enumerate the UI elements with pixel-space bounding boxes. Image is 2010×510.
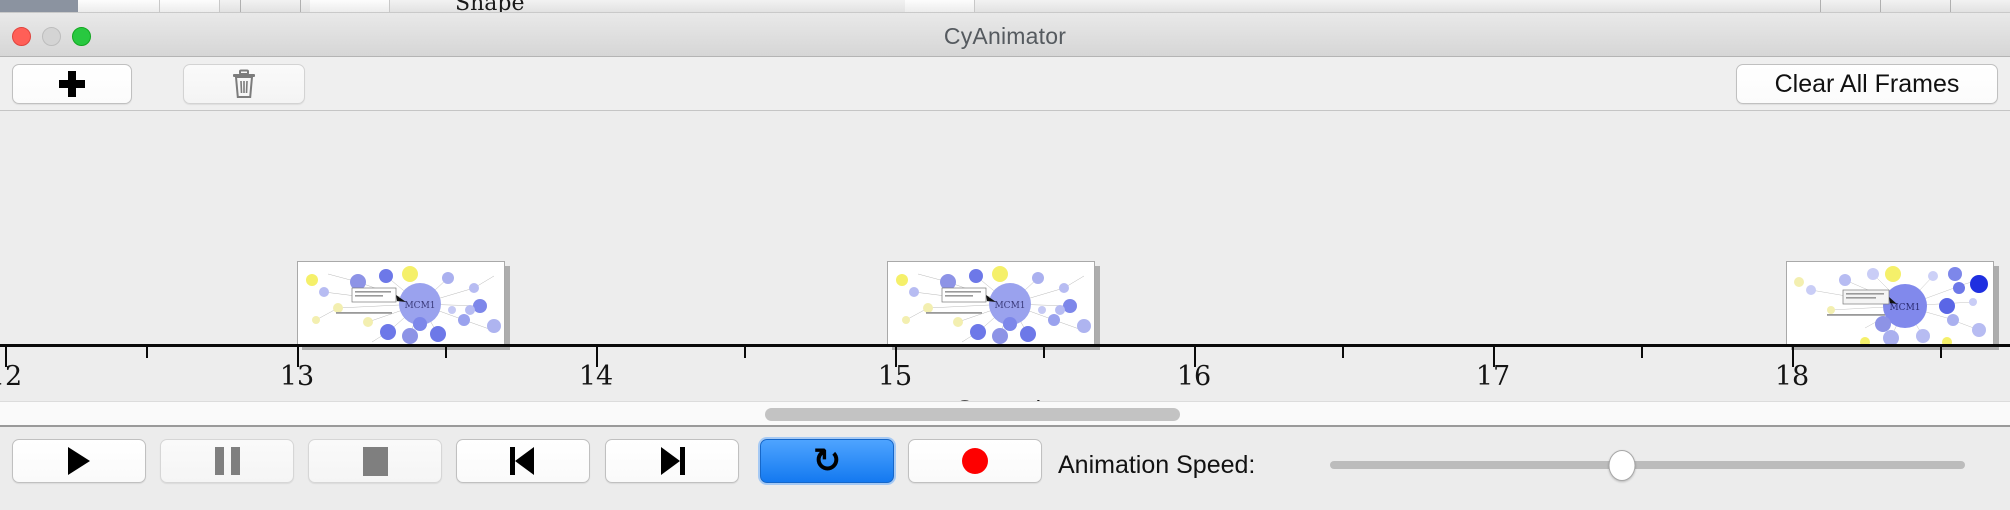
- cyanimator-window: CyAnimator Clear All Frames: [0, 12, 2010, 510]
- background-window-tick: [240, 0, 241, 12]
- axis-label-18: 18: [1775, 361, 1809, 392]
- axis-label-17: 17: [1476, 361, 1510, 392]
- record-button[interactable]: [908, 439, 1042, 483]
- background-window-segment: [78, 0, 160, 12]
- background-window-tick: [1950, 0, 1951, 12]
- clear-all-frames-label: Clear All Frames: [1775, 70, 1960, 99]
- delete-frame-button[interactable]: [183, 64, 305, 104]
- background-window-tick: [1820, 0, 1821, 12]
- background-window-sidebar: [0, 0, 78, 12]
- axis-label-16: 16: [1177, 361, 1211, 392]
- axis-label-12: 12: [0, 361, 22, 392]
- skip-end-button[interactable]: [605, 439, 739, 483]
- frame-thumbnail-1[interactable]: MCM1: [297, 261, 505, 345]
- network-graph-preview: MCM1: [888, 262, 1095, 345]
- animation-speed-slider[interactable]: [1330, 461, 1965, 469]
- axis-tick-minor: [1641, 347, 1643, 358]
- pause-icon: [215, 447, 240, 475]
- axis-tick-minor: [1342, 347, 1344, 358]
- scrollbar-thumb[interactable]: [765, 408, 1180, 421]
- window-title: CyAnimator: [0, 23, 2010, 50]
- frame-timeline[interactable]: MCM1: [0, 111, 2010, 401]
- background-window-segment: [905, 0, 975, 12]
- axis-tick-minor: [744, 347, 746, 358]
- cyanimator-screen: Shape CyAnimator: [0, 0, 2010, 510]
- window-titlebar: CyAnimator: [0, 13, 2010, 57]
- timeline-horizontal-scrollbar[interactable]: [0, 401, 2010, 427]
- animation-speed-label: Animation Speed:: [1058, 451, 1255, 480]
- loop-icon: ↻: [813, 444, 842, 478]
- svg-text:MCM1: MCM1: [1889, 303, 1920, 313]
- axis-tick-minor: [445, 347, 447, 358]
- background-window-segment: [160, 0, 220, 12]
- trash-icon: [231, 69, 257, 99]
- background-window-strip: Shape: [0, 0, 2010, 12]
- plus-icon: [59, 71, 85, 97]
- stop-icon: [363, 447, 388, 476]
- skip-start-button[interactable]: [456, 439, 590, 483]
- background-window-title: Shape: [455, 0, 524, 12]
- network-graph-preview: MCM1: [298, 262, 505, 345]
- animation-speed-slider-thumb[interactable]: [1609, 450, 1636, 481]
- play-icon: [68, 447, 90, 475]
- pause-button[interactable]: [160, 439, 294, 483]
- frame-thumbnail-2[interactable]: MCM1: [887, 261, 1095, 345]
- axis-label-15: 15: [878, 361, 912, 392]
- axis-tick-minor: [146, 347, 148, 358]
- skip-forward-icon: [659, 447, 685, 475]
- svg-text:MCM1: MCM1: [994, 301, 1025, 311]
- playback-controls: ↻ Animation Speed:: [0, 427, 2010, 501]
- record-icon: [962, 448, 988, 474]
- background-window-segment: [310, 0, 390, 12]
- axis-tick-minor: [1043, 347, 1045, 358]
- frame-toolbar: Clear All Frames: [0, 57, 2010, 111]
- background-window-tick: [1880, 0, 1881, 12]
- stop-button[interactable]: [308, 439, 442, 483]
- timeline-axis-line: [0, 344, 2010, 347]
- loop-button[interactable]: ↻: [760, 439, 894, 483]
- axis-tick-minor: [1940, 347, 1942, 358]
- svg-text:MCM1: MCM1: [404, 301, 435, 311]
- axis-label-14: 14: [579, 361, 613, 392]
- add-frame-button[interactable]: [12, 64, 132, 104]
- network-graph-preview: MCM1: [1787, 262, 1994, 345]
- skip-back-icon: [510, 447, 536, 475]
- background-window-tick: [300, 0, 301, 12]
- clear-all-frames-button[interactable]: Clear All Frames: [1736, 64, 1998, 104]
- axis-label-13: 13: [280, 361, 314, 392]
- frame-thumbnail-3[interactable]: MCM1: [1786, 261, 1994, 345]
- play-button[interactable]: [12, 439, 146, 483]
